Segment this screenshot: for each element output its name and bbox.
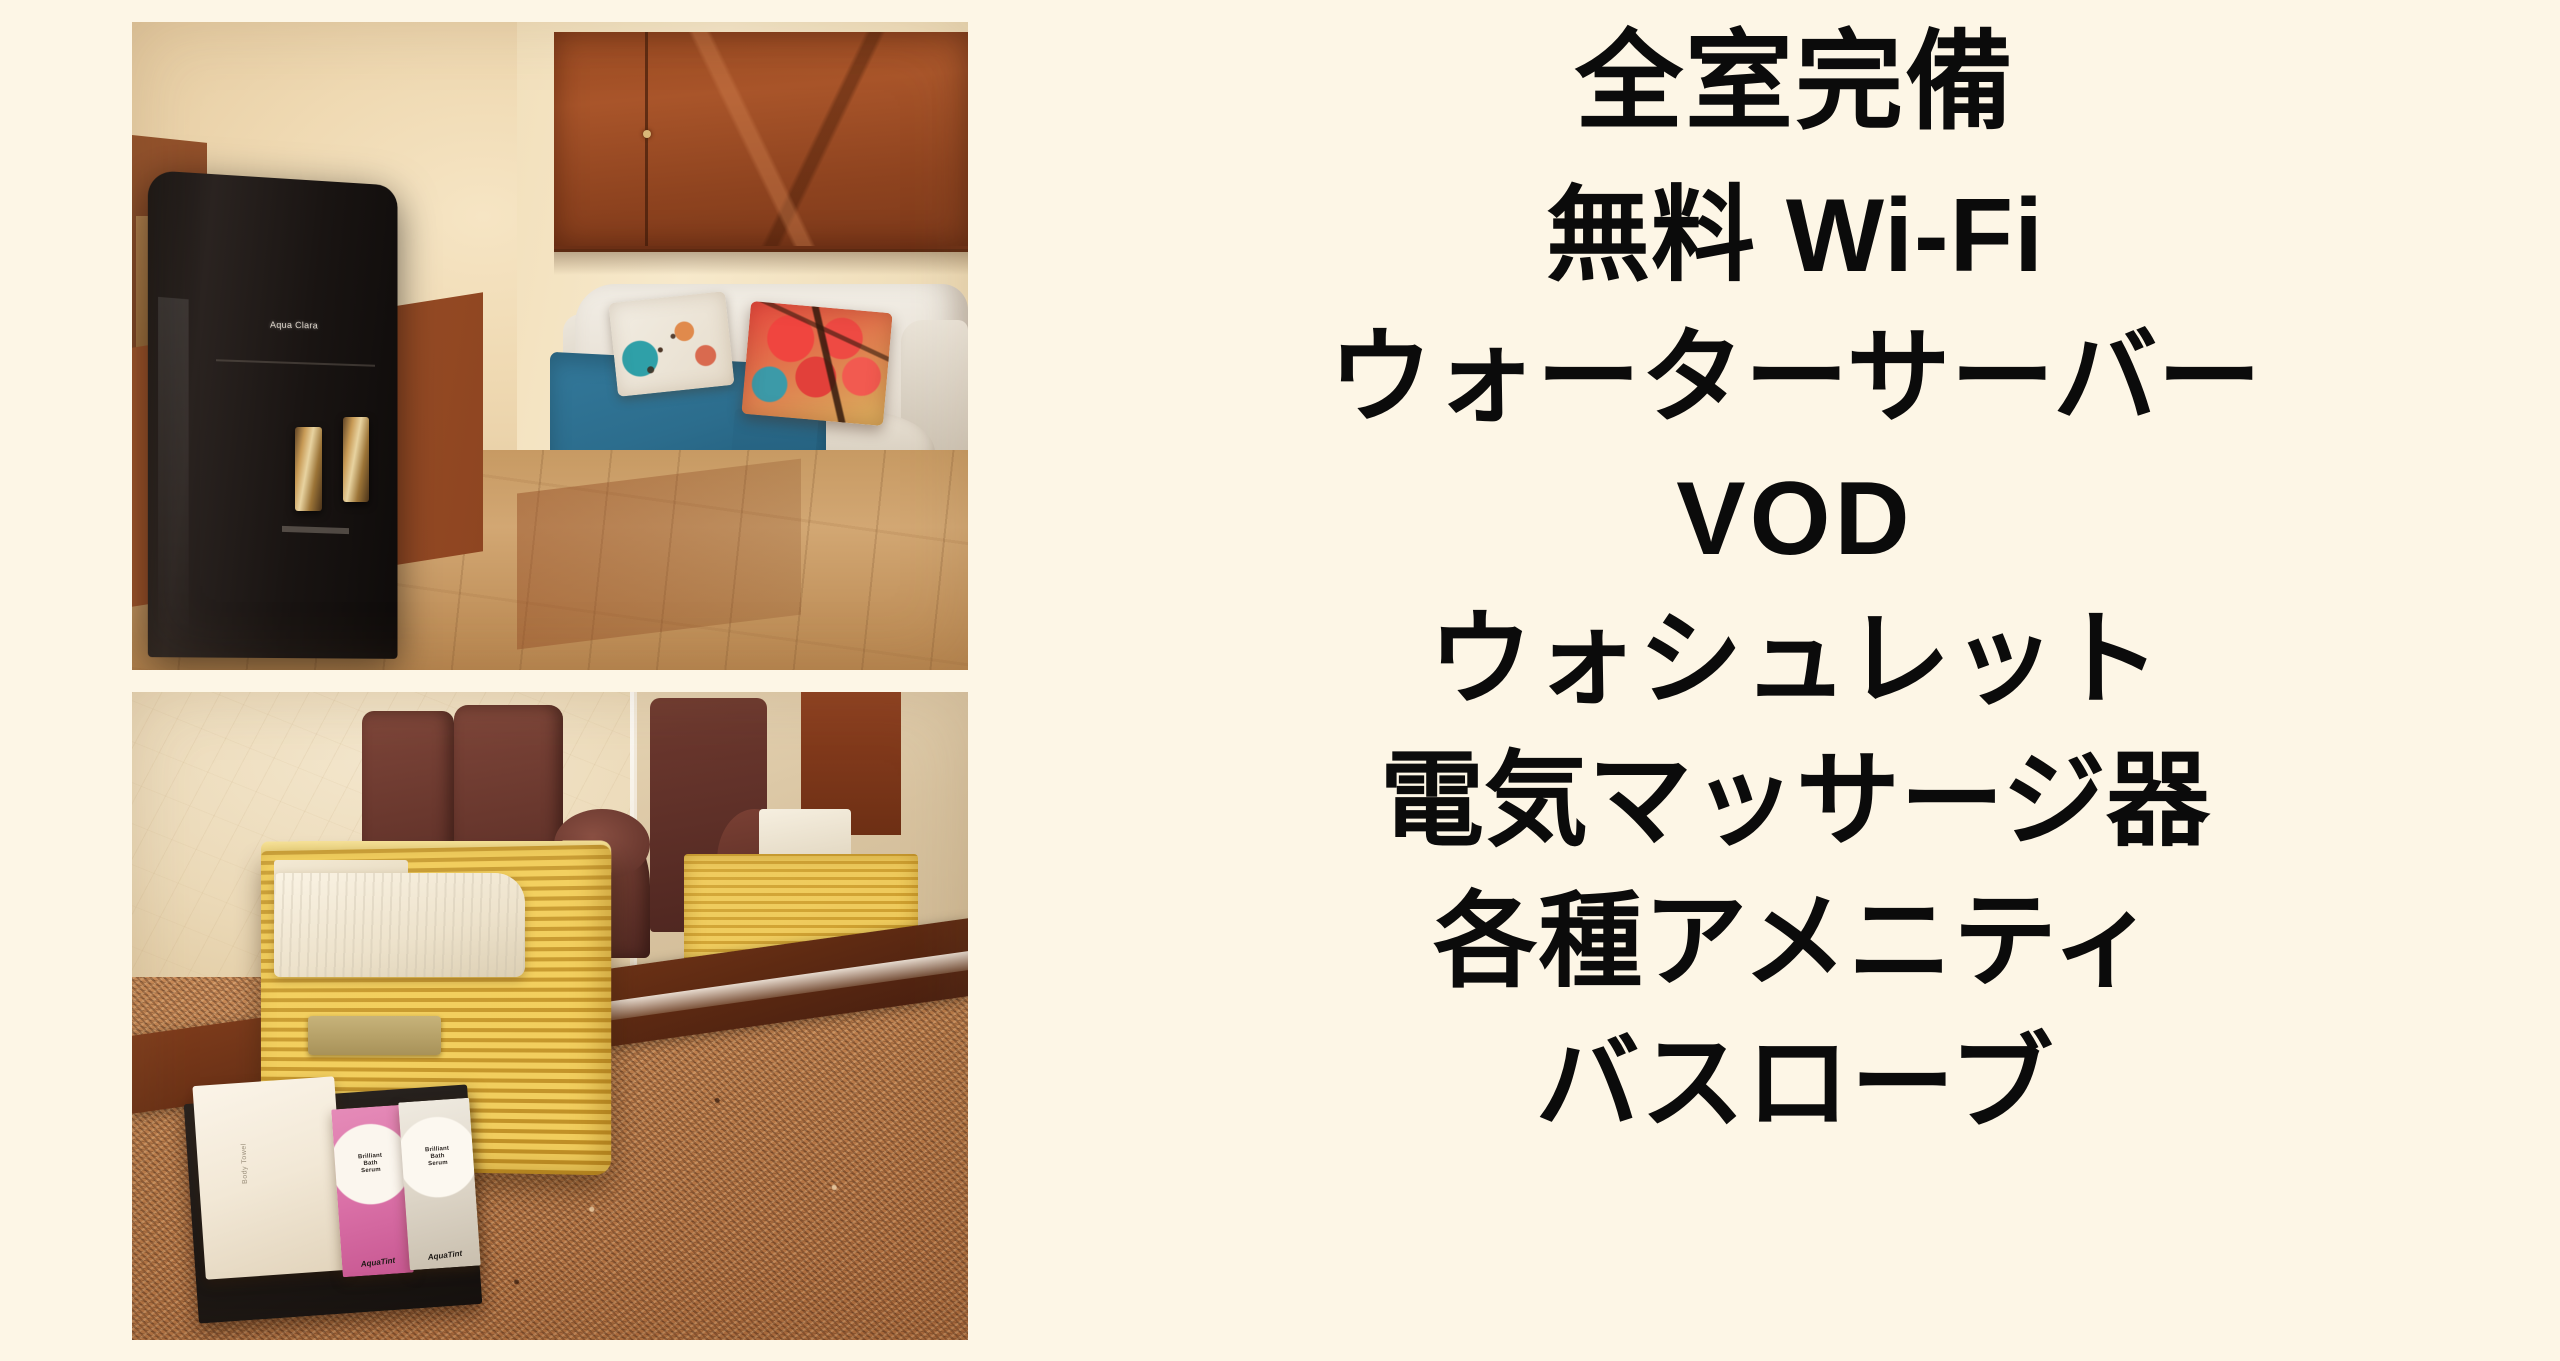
floral-pillow-teal [608, 292, 734, 398]
white-waffle-towel [274, 873, 525, 977]
feature-item-massager: 電気マッサージ器 [1380, 734, 2210, 869]
wooden-wall-cabinet [554, 32, 968, 252]
bath-serum-packet-white: Brilliant Bath Serum AquaTint [398, 1098, 481, 1271]
body-towel-packet [192, 1076, 347, 1280]
bath-serum-label-pink: Brilliant Bath Serum [358, 1153, 384, 1176]
water-server-logo: Aqua Clara [270, 320, 318, 331]
feature-item-bathrobe: バスローブ [1536, 1017, 2055, 1152]
feature-item-washlet: ウォシュレット [1429, 593, 2162, 728]
feature-item-wifi: 無料 Wi-Fi [1546, 169, 2044, 304]
cabinet-grain [554, 32, 968, 246]
water-server-tap-hot [295, 427, 322, 511]
feature-item-vod: VOD [1676, 452, 1913, 587]
feature-item-amenities: 各種アメニティ [1433, 875, 2157, 1010]
photo-column: Aqua Clara [132, 22, 968, 1340]
bath-serum-brand-pink: AquaTint [360, 1256, 395, 1269]
feature-list: 無料 Wi-Fi ウォーターサーバー VOD ウォシュレット 電気マッサージ器 … [1329, 169, 2262, 1151]
water-server-highlight [158, 296, 189, 647]
water-server [148, 170, 397, 658]
water-server-tap-cold [343, 417, 370, 501]
floral-pillow-red [742, 301, 893, 426]
bath-serum-brand-white: AquaTint [427, 1249, 462, 1262]
feature-item-water-server: ウォーターサーバー [1329, 311, 2262, 446]
poster-root: Aqua Clara [0, 0, 2560, 1361]
page-title: 全室完備 [1575, 18, 2015, 145]
amenity-photo: Body Towel Brilliant Bath Serum AquaTint… [132, 692, 968, 1340]
straw-basket-handle [308, 1016, 442, 1055]
lounge-photo: Aqua Clara [132, 22, 968, 670]
bath-serum-label-white: Brilliant Bath Serum [425, 1146, 451, 1169]
text-column: 全室完備 無料 Wi-Fi ウォーターサーバー VOD ウォシュレット 電気マッ… [1030, 0, 2560, 1361]
cabinet-shadow [554, 249, 968, 275]
